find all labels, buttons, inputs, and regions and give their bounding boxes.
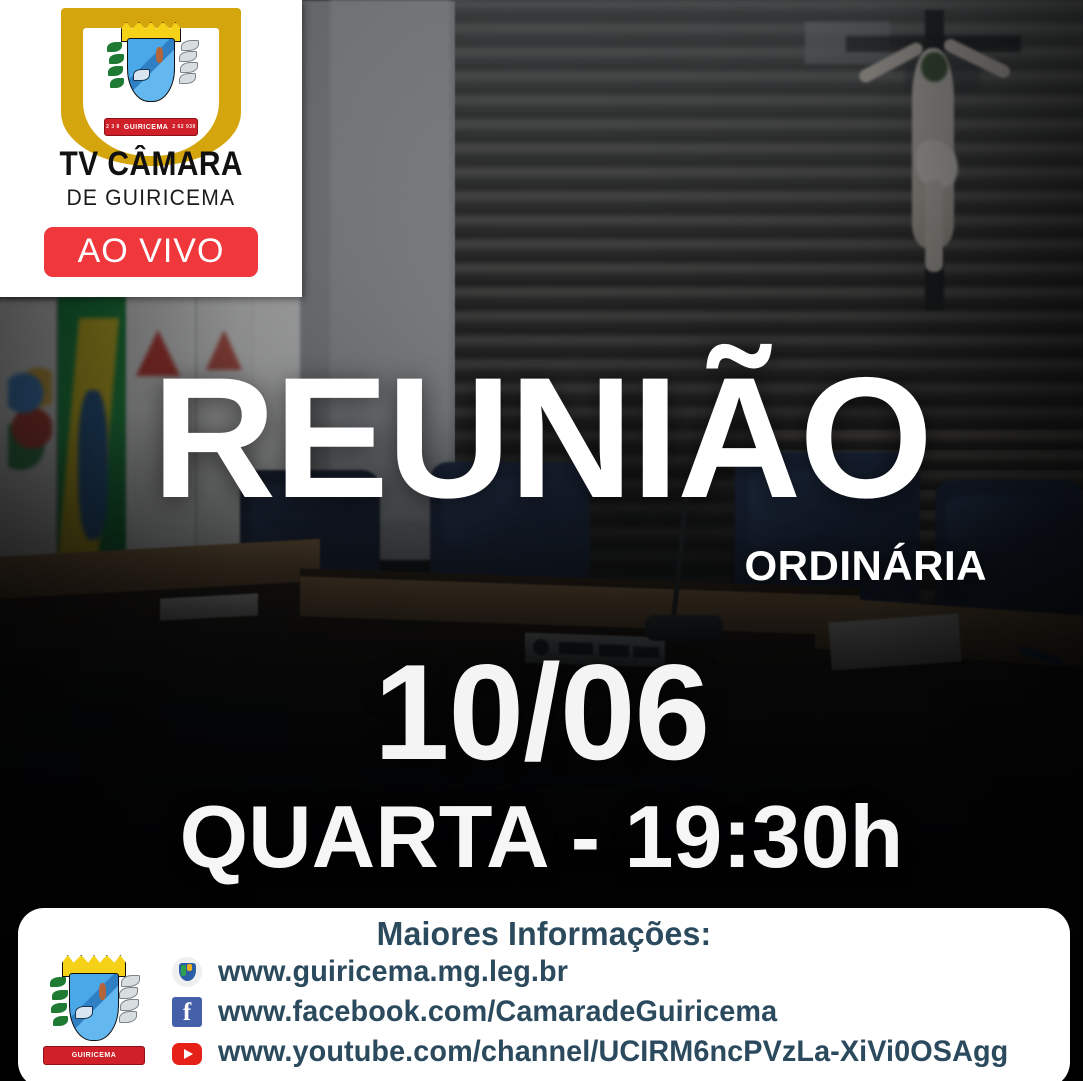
logo-subtitle: DE GUIRICEMA xyxy=(67,187,236,209)
panel-fish xyxy=(75,1006,93,1019)
meeting-weekday-time: QUARTA - 19:30h xyxy=(0,793,1083,881)
meeting-type-label: ORDINÁRIA xyxy=(745,542,988,590)
link-row-website[interactable]: www.guiricema.mg.leg.br xyxy=(172,953,1041,991)
contact-info-title: Maiores Informações: xyxy=(34,915,1054,953)
link-row-facebook[interactable]: f www.facebook.com/CamaradeGuiricema xyxy=(172,993,1041,1031)
coat-of-arms-left-branch xyxy=(107,42,131,98)
contact-links-list: www.guiricema.mg.leg.br f www.facebook.c… xyxy=(172,953,1041,1073)
coat-of-arms-indigenous-figure xyxy=(156,47,163,63)
website-icon xyxy=(172,957,202,987)
coat-of-arms-panel: GUIRICEMA xyxy=(42,953,146,1073)
panel-right-branch xyxy=(112,975,140,1037)
contact-info-body: GUIRICEMA www.guiricema.mg.leg.br f www.… xyxy=(18,951,1070,1073)
coat-of-arms-fish xyxy=(133,69,150,81)
meeting-date: 10/06 xyxy=(0,644,1083,780)
tv-camara-logo-card: 2 3 8 GUIRICEMA 2 62 939 TV CÂMARA DE GU… xyxy=(0,0,302,297)
coat-of-arms-motto: GUIRICEMA xyxy=(124,124,169,131)
page-title: REUNIÃO xyxy=(0,352,1083,524)
coat-of-arms-right-branch xyxy=(173,40,199,98)
panel-coat-of-arms-ribbon: GUIRICEMA xyxy=(43,1046,145,1065)
coat-of-arms-escutcheon xyxy=(127,38,175,102)
facebook-icon: f xyxy=(172,997,202,1027)
coat-of-arms-right-date: 2 62 939 xyxy=(172,124,195,130)
coat-of-arms-left-date: 2 3 8 xyxy=(106,124,120,130)
panel-motto: GUIRICEMA xyxy=(72,1052,117,1059)
youtube-icon xyxy=(172,1043,202,1065)
panel-indigenous-figure xyxy=(99,983,106,1000)
panel-coat-of-arms-wrap: GUIRICEMA xyxy=(34,951,154,1073)
panel-left-branch xyxy=(50,977,76,1037)
logo-title: TV CÂMARA xyxy=(59,147,242,181)
coat-of-arms-logo: 2 3 8 GUIRICEMA 2 62 939 xyxy=(95,22,207,142)
coat-of-arms-ribbon: 2 3 8 GUIRICEMA 2 62 939 xyxy=(104,118,198,136)
link-row-youtube[interactable]: www.youtube.com/channel/UCIRM6ncPVzLa-Xi… xyxy=(172,1033,1041,1071)
poster-canvas: 2 3 8 GUIRICEMA 2 62 939 TV CÂMARA DE GU… xyxy=(0,0,1083,1081)
youtube-url[interactable]: www.youtube.com/channel/UCIRM6ncPVzLa-Xi… xyxy=(218,1035,1008,1069)
facebook-url[interactable]: www.facebook.com/CamaradeGuiricema xyxy=(218,995,777,1029)
website-url[interactable]: www.guiricema.mg.leg.br xyxy=(218,955,568,989)
live-badge: AO VIVO xyxy=(44,227,259,277)
contact-info-panel: Maiores Informações: xyxy=(18,908,1070,1081)
